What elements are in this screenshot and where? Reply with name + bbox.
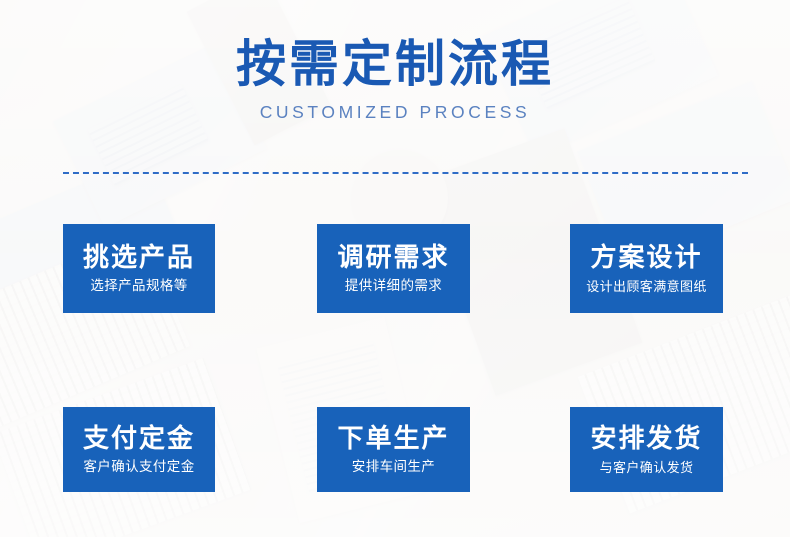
process-card-title: 调研需求 — [337, 243, 449, 272]
process-card-desc: 与客户确认发货 — [600, 460, 694, 476]
banner-header: 按需定制流程 CUSTOMIZED PROCESS — [0, 38, 790, 123]
process-card-2[interactable]: 调研需求 提供详细的需求 — [317, 224, 470, 313]
process-card-title: 方案设计 — [590, 243, 702, 272]
process-card-3[interactable]: 方案设计 设计出顾客满意图纸 — [570, 224, 723, 313]
process-card-title: 安排发货 — [590, 424, 702, 453]
process-card-title: 挑选产品 — [83, 243, 195, 272]
process-card-desc: 设计出顾客满意图纸 — [586, 279, 707, 295]
process-card-desc: 安排车间生产 — [352, 459, 435, 475]
dashed-divider — [63, 172, 748, 174]
process-card-desc: 提供详细的需求 — [345, 278, 442, 294]
customized-process-banner: 按需定制流程 CUSTOMIZED PROCESS 挑选产品 选择产品规格等 调… — [0, 0, 790, 537]
process-card-desc: 客户确认支付定金 — [83, 459, 194, 475]
page-subtitle: CUSTOMIZED PROCESS — [0, 102, 790, 123]
process-card-5[interactable]: 下单生产 安排车间生产 — [317, 407, 470, 492]
page-title: 按需定制流程 — [0, 38, 790, 90]
process-card-title: 支付定金 — [83, 424, 195, 453]
process-card-6[interactable]: 安排发货 与客户确认发货 — [570, 407, 723, 492]
process-card-title: 下单生产 — [337, 424, 449, 453]
process-card-desc: 选择产品规格等 — [90, 278, 187, 294]
process-card-4[interactable]: 支付定金 客户确认支付定金 — [63, 407, 215, 492]
process-card-1[interactable]: 挑选产品 选择产品规格等 — [63, 224, 215, 313]
